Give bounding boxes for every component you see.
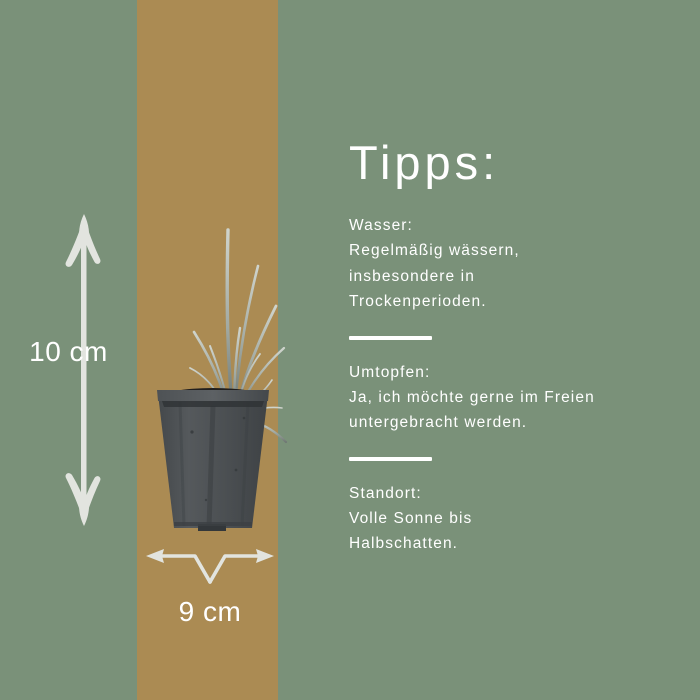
height-label: 10 cm <box>0 338 137 366</box>
tip-line: Regelmäßig wässern, <box>349 238 679 263</box>
width-label: 9 cm <box>140 598 280 626</box>
tip-section-standort: Standort: Volle Sonne bis Halbschatten. <box>349 481 679 556</box>
potted-plant-image <box>140 170 290 535</box>
tip-section-wasser: Wasser: Regelmäßig wässern, insbesondere… <box>349 213 679 313</box>
tip-heading: Standort: <box>349 481 679 506</box>
pot-rim <box>157 390 269 401</box>
tip-line: Volle Sonne bis <box>349 506 679 531</box>
tips-title: Tipps: <box>349 138 679 187</box>
tip-line: Ja, ich möchte gerne im Freien <box>349 385 679 410</box>
tip-line: untergebracht werden. <box>349 410 679 435</box>
product-info-card: 10 cm <box>0 0 700 700</box>
section-divider <box>349 336 432 340</box>
tips-panel: Tipps: Wasser: Regelmäßig wässern, insbe… <box>349 138 679 556</box>
tip-heading: Umtopfen: <box>349 360 679 385</box>
tip-heading: Wasser: <box>349 213 679 238</box>
tip-line: insbesondere in <box>349 264 679 289</box>
height-measure-arrow <box>0 210 137 530</box>
potted-grass-plant-illustration <box>140 170 290 535</box>
section-divider <box>349 457 432 461</box>
tip-section-umtopfen: Umtopfen: Ja, ich möchte gerne im Freien… <box>349 360 679 435</box>
tip-line: Halbschatten. <box>349 531 679 556</box>
width-measure-arrow <box>140 538 280 593</box>
tip-line: Trockenperioden. <box>349 289 679 314</box>
horizontal-double-arrow-icon <box>140 538 280 593</box>
vertical-double-arrow-icon <box>0 210 137 530</box>
